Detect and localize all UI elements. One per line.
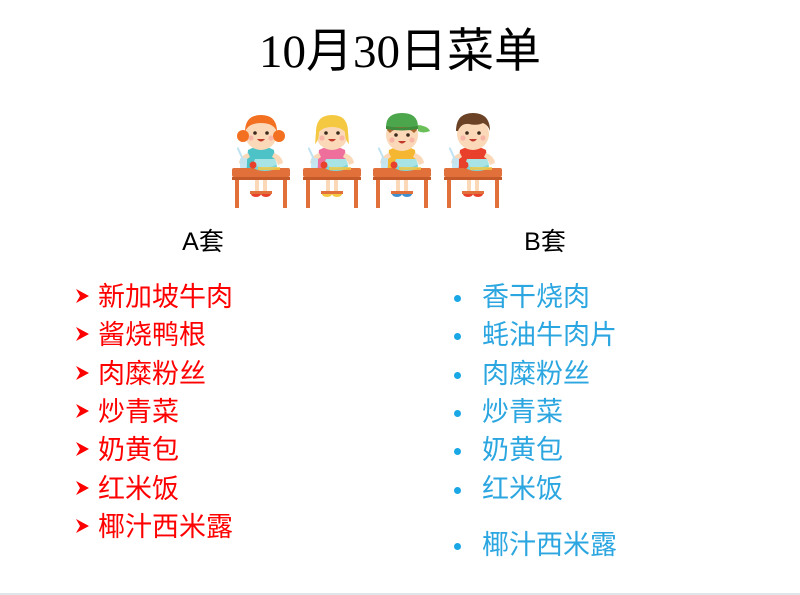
arrow-bullet-icon	[74, 402, 98, 420]
menu-item-label: 新加坡牛肉	[98, 278, 233, 316]
menu-item: 肉糜粉丝	[452, 355, 772, 393]
set-b-label: B套	[470, 222, 620, 258]
arrow-bullet-icon	[74, 479, 98, 497]
menu-item: 椰汁西米露	[74, 508, 374, 546]
menu-item-label: 香干烧肉	[482, 278, 590, 316]
menu-item: 红米饭	[74, 470, 374, 508]
menu-item: 新加坡牛肉	[74, 278, 374, 316]
menu-item-label: 炒青菜	[482, 393, 563, 431]
arrow-bullet-icon	[74, 325, 98, 343]
menu-item-label: 椰汁西米露	[482, 526, 617, 564]
menu-item-label: 红米饭	[98, 470, 179, 508]
child-figure-3	[369, 108, 435, 212]
menu-item: 炒青菜	[74, 393, 374, 431]
page-title: 10月30日菜单	[0, 26, 800, 79]
menu-item: 酱烧鸭根	[74, 316, 374, 354]
menu-item: 奶黄包	[452, 431, 772, 469]
menu-item-label: 炒青菜	[98, 393, 179, 431]
menu-item: 炒青菜	[452, 393, 772, 431]
menu-item-label: 肉糜粉丝	[482, 355, 590, 393]
menu-item-label: 肉糜粉丝	[98, 355, 206, 393]
menu-item-label: 酱烧鸭根	[98, 316, 206, 354]
menu-slide: 10月30日菜单	[0, 0, 800, 595]
menu-item: 椰汁西米露	[452, 526, 772, 564]
menu-item: 红米饭	[452, 470, 772, 508]
set-a-menu-list: 新加坡牛肉 酱烧鸭根 肉糜粉丝 炒青菜 奶黄包	[74, 278, 374, 546]
set-a-label: A套	[128, 222, 278, 258]
arrow-bullet-icon	[74, 287, 98, 305]
child-figure-1	[228, 108, 294, 212]
menu-item-label: 奶黄包	[98, 431, 179, 469]
set-b-menu-list: 香干烧肉 蚝油牛肉片 肉糜粉丝 炒青菜 奶黄包 红米饭 椰汁西米露	[452, 278, 772, 564]
child-figure-2	[299, 108, 365, 212]
menu-item: 香干烧肉	[452, 278, 772, 316]
menu-item-label: 蚝油牛肉片	[482, 316, 617, 354]
arrow-bullet-icon	[74, 364, 98, 382]
children-eating-illustration	[228, 108, 506, 212]
menu-item-label: 奶黄包	[482, 431, 563, 469]
menu-item-label: 红米饭	[482, 470, 563, 508]
arrow-bullet-icon	[74, 517, 98, 535]
menu-item: 奶黄包	[74, 431, 374, 469]
menu-item-label: 椰汁西米露	[98, 508, 233, 546]
arrow-bullet-icon	[74, 440, 98, 458]
child-figure-4	[440, 108, 506, 212]
menu-item: 蚝油牛肉片	[452, 316, 772, 354]
menu-item: 肉糜粉丝	[74, 355, 374, 393]
